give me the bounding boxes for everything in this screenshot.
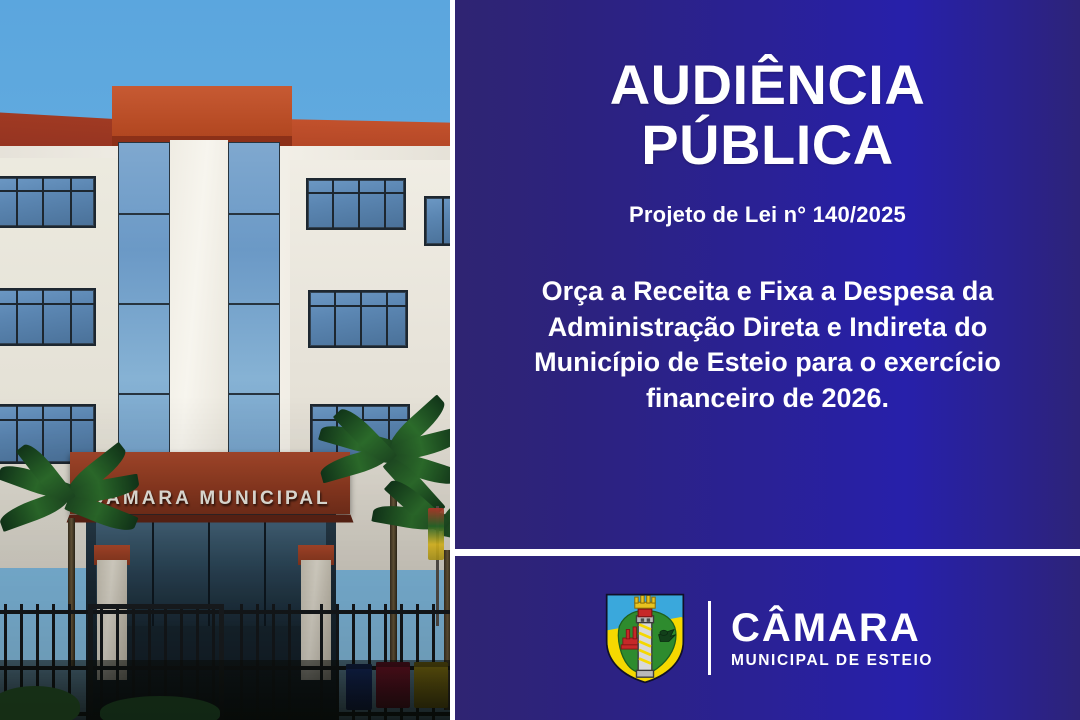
- logo-block: CÂMARA MUNICIPAL DE ESTEIO: [455, 556, 1080, 720]
- page-title-line-2: PÚBLICA: [610, 115, 926, 175]
- bill-reference: Projeto de Lei n° 140/2025: [629, 202, 906, 228]
- content-panel: AUDIÊNCIA PÚBLICA Projeto de Lei n° 140/…: [455, 0, 1080, 720]
- window-left-middle: [0, 288, 96, 346]
- roof-center-parapet: [112, 86, 292, 140]
- window-right-middle: [308, 290, 408, 348]
- logo-title: CÂMARA: [731, 608, 921, 648]
- camara-logo-lockup: CÂMARA MUNICIPAL DE ESTEIO: [602, 592, 933, 684]
- window-far-right: [424, 196, 450, 246]
- horizontal-divider: [455, 549, 1080, 556]
- logo-wordmark: CÂMARA MUNICIPAL DE ESTEIO: [731, 608, 933, 669]
- window-right-upper: [306, 178, 406, 230]
- logo-subtitle: MUNICIPAL DE ESTEIO: [731, 653, 933, 669]
- bill-description: Orça a Receita e Fixa a Despesa da Admin…: [533, 274, 1003, 417]
- announcement-block: AUDIÊNCIA PÚBLICA Projeto de Lei n° 140/…: [455, 5, 1080, 549]
- logo-separator-rule: [708, 601, 711, 675]
- esteio-coat-of-arms-icon: [602, 592, 688, 684]
- building-photo: CÂMARA MUNICIPAL: [0, 0, 450, 720]
- window-left-upper: [0, 176, 96, 228]
- foreground-shrub-mid: [100, 696, 220, 720]
- flag-rs: [428, 508, 444, 560]
- poster-canvas: CÂMARA MUNICIPAL: [0, 0, 1080, 720]
- page-title-line-1: AUDIÊNCIA: [610, 55, 926, 115]
- page-title: AUDIÊNCIA PÚBLICA: [610, 55, 926, 176]
